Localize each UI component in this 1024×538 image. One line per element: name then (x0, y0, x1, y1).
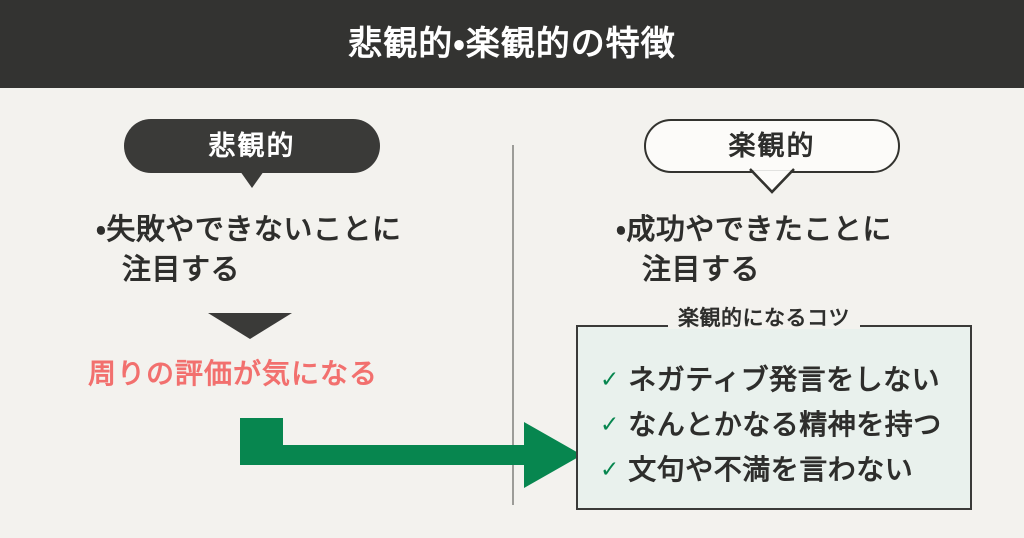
infographic-canvas: 悲観的・楽観的の特徴 悲観的 ・失敗やできないことに 注目する 周りの評価が気に… (0, 0, 1024, 538)
check-icon: ✓ (600, 458, 619, 481)
tips-list-item: ✓ 文句や不満を言わない (600, 447, 960, 492)
header-bar: 悲観的・楽観的の特徴 (0, 0, 1024, 88)
check-icon: ✓ (600, 413, 619, 436)
optimistic-bullet-text: ・成功やできたことに 注目する (616, 210, 1024, 290)
tips-list-item: ✓ ネガティブ発言をしない (600, 357, 960, 402)
elbow-arrow-right-icon (236, 418, 586, 492)
badge-optimistic-tail-icon (749, 168, 795, 194)
tips-item-label: ネガティブ発言をしない (628, 366, 940, 394)
badge-optimistic: 楽観的 (644, 119, 900, 173)
badge-optimistic-label: 楽観的 (729, 133, 816, 160)
badge-pessimistic-label: 悲観的 (209, 133, 296, 160)
tips-item-label: 文句や不満を言わない (628, 456, 913, 484)
tips-box-legend: 楽観的になるコツ (668, 308, 860, 329)
tips-item-label: なんとかなる精神を持つ (628, 411, 942, 439)
tips-list-item: ✓ なんとかなる精神を持つ (600, 402, 960, 447)
pessimistic-bullet-text: ・失敗やできないことに 注目する (96, 210, 522, 290)
pessimistic-conclusion-text: 周りの評価が気になる (88, 360, 468, 388)
badge-pessimistic-tail-icon (240, 171, 264, 188)
page-title: 悲観的・楽観的の特徴 (348, 27, 676, 61)
check-icon: ✓ (600, 368, 619, 391)
badge-pessimistic: 悲観的 (124, 119, 380, 173)
triangle-down-icon (208, 313, 292, 339)
tips-list: ✓ ネガティブ発言をしない ✓ なんとかなる精神を持つ ✓ 文句や不満を言わない (600, 357, 960, 492)
